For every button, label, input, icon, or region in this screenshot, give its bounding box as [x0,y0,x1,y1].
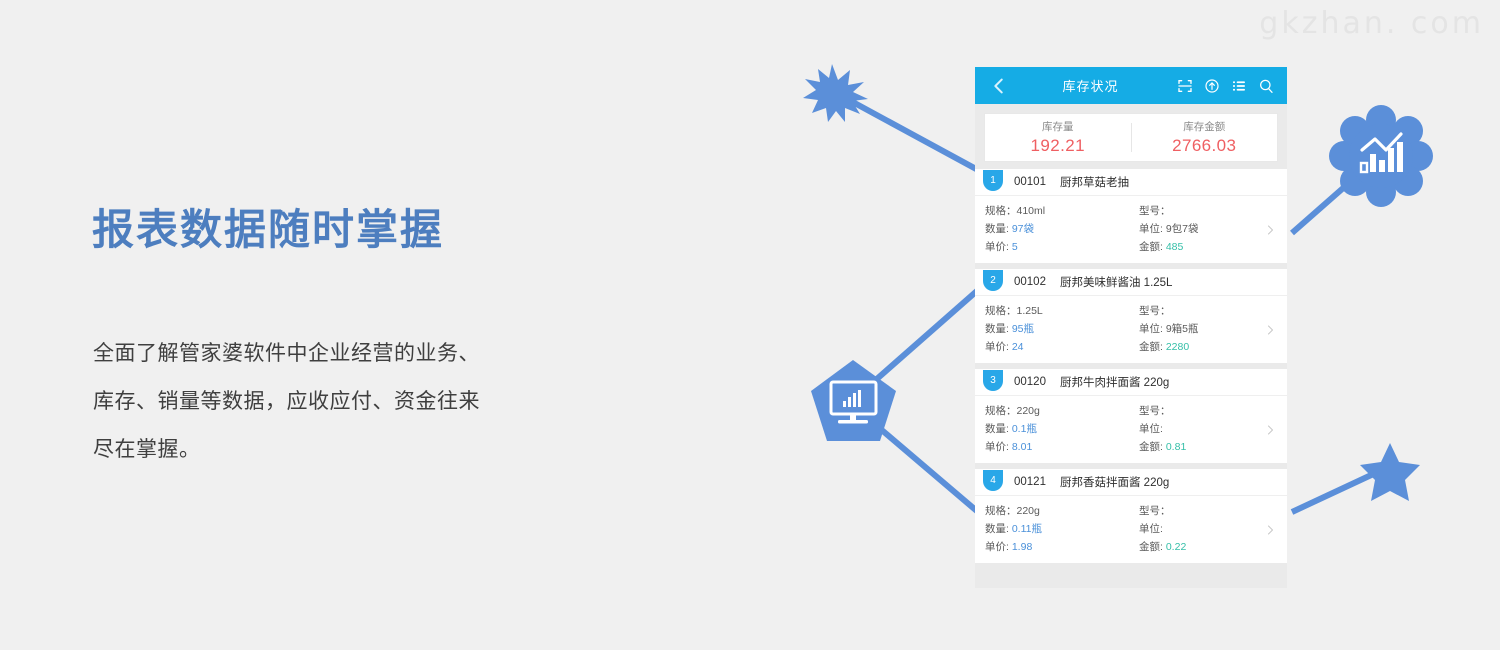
list-item-header: 3 00120 厨邦牛肉拌面酱 220g [975,369,1287,396]
qty-label: 数量: [985,523,1009,535]
spec-value: 220g [1017,405,1040,417]
unit-label: 单位: [1139,323,1163,335]
spec-field: 规格：1.25L [985,302,1133,320]
connector-line-right-lower [1292,470,1382,512]
qty-field: 数量: 95瓶 [985,320,1133,338]
price-value: 24 [1012,341,1024,353]
app-title: 库存状况 [1004,76,1177,95]
qty-label: 数量: [985,223,1009,235]
description-line-1: 全面了解管家婆软件中企业经营的业务、 [93,330,593,378]
cloud-shape [1329,105,1433,207]
details-col-left: 规格：220g 数量: 0.1瓶 单价: 8.01 [975,402,1133,456]
unit-value: 9箱5瓶 [1166,323,1199,335]
price-value: 8.01 [1012,441,1032,453]
list-item-details: 规格：220g 数量: 0.1瓶 单价: 8.01 型号： 单位: 金额: 0.… [975,396,1287,463]
spec-value: 220g [1017,505,1040,517]
monitor-screen-outline [831,382,876,414]
spec-label: 规格： [985,205,1017,217]
product-name: 厨邦美味鲜酱油 1.25L [1060,274,1172,290]
summary-stock-amount-value: 2766.03 [1132,135,1278,156]
list-item[interactable]: 4 00121 厨邦香菇拌面酱 220g 规格：220g 数量: 0.11瓶 单… [975,469,1287,563]
list-item-header: 1 00101 厨邦草菇老抽 [975,169,1287,196]
description-line-3: 尽在掌握。 [93,426,593,474]
spec-field: 规格：220g [985,502,1133,520]
description-line-2: 库存、销量等数据，应收应付、资金往来 [93,378,593,426]
chevron-right-icon[interactable] [1264,524,1276,536]
model-label: 型号： [1139,305,1171,317]
burst-icon [803,64,868,122]
amount-field: 金额: 0.22 [1139,538,1287,556]
product-name: 厨邦草菇老抽 [1060,174,1129,190]
summary-stock-amount: 库存金额 2766.03 [1132,120,1278,156]
chevron-right-icon[interactable] [1264,224,1276,236]
summary-stock-qty-value: 192.21 [985,135,1131,156]
spec-value: 410ml [1017,205,1046,217]
product-code: 00120 [1014,376,1046,388]
star-icon [1360,443,1420,501]
search-icon[interactable] [1258,78,1274,94]
summary-stock-amount-label: 库存金额 [1132,120,1278,135]
amount-value: 0.81 [1166,441,1186,453]
summary-card: 库存量 192.21 库存金额 2766.03 [984,113,1278,162]
burst-star-badge [803,64,868,122]
monitor-chart-icon [843,390,861,407]
spec-label: 规格： [985,305,1017,317]
row-index-badge: 4 [983,470,1003,491]
model-label: 型号： [1139,205,1171,217]
list-item-details: 规格：410ml 数量: 97袋 单价: 5 型号： 单位: 9包7袋 金额: … [975,196,1287,263]
amount-value: 2280 [1166,341,1189,353]
amount-value: 485 [1166,241,1184,253]
model-field: 型号： [1139,202,1287,220]
qty-value: 0.11瓶 [1012,523,1042,535]
app-header-actions [1177,78,1274,94]
spec-label: 规格： [985,505,1017,517]
qty-label: 数量: [985,323,1009,335]
chevron-right-icon[interactable] [1264,324,1276,336]
row-index-badge: 3 [983,370,1003,391]
connector-line-mid-lower [870,420,978,512]
connector-line-right-upper [1292,175,1358,233]
five-point-star-badge [1360,443,1420,501]
product-code: 00121 [1014,476,1046,488]
qty-label: 数量: [985,423,1009,435]
list-item-details: 规格：220g 数量: 0.11瓶 单价: 1.98 型号： 单位: 金额: 0… [975,496,1287,563]
model-label: 型号： [1139,405,1171,417]
amount-label: 金额: [1139,441,1163,453]
row-index-badge: 1 [983,170,1003,191]
unit-label: 单位: [1139,423,1163,435]
details-col-left: 规格：410ml 数量: 97袋 单价: 5 [975,202,1133,256]
list-item[interactable]: 1 00101 厨邦草菇老抽 规格：410ml 数量: 97袋 单价: 5 型号… [975,169,1287,269]
scan-frame-icon[interactable] [1177,78,1193,94]
amount-field: 金额: 485 [1139,238,1287,256]
unit-label: 单位: [1139,223,1163,235]
phone-mockup: 库存状况 [975,67,1287,588]
summary-stock-qty: 库存量 192.21 [985,120,1131,156]
summary-stock-qty-label: 库存量 [985,120,1131,135]
qty-field: 数量: 0.1瓶 [985,420,1133,438]
product-name: 厨邦香菇拌面酱 220g [1060,474,1169,490]
price-field: 单价: 1.98 [985,538,1133,556]
model-field: 型号： [1139,402,1287,420]
connector-line-mid-upper [870,290,978,385]
site-watermark: gkzhan. com [1259,6,1484,41]
amount-label: 金额: [1139,241,1163,253]
list-item[interactable]: 3 00120 厨邦牛肉拌面酱 220g 规格：220g 数量: 0.1瓶 单价… [975,369,1287,469]
qty-value: 97袋 [1012,223,1034,235]
cloud-chart-badge [1329,105,1433,207]
spec-field: 规格：220g [985,402,1133,420]
arrow-up-circle-icon[interactable] [1204,78,1220,94]
connector-line-top-left [838,94,978,170]
chevron-right-icon[interactable] [1264,424,1276,436]
monitor-stand-base [838,420,868,424]
qty-value: 95瓶 [1012,323,1034,335]
qty-field: 数量: 97袋 [985,220,1133,238]
list-item[interactable]: 2 00102 厨邦美味鲜酱油 1.25L 规格：1.25L 数量: 95瓶 单… [975,269,1287,369]
unit-label: 单位: [1139,523,1163,535]
price-label: 单价: [985,341,1009,353]
spec-value: 1.25L [1017,305,1043,317]
amount-field: 金额: 0.81 [1139,438,1287,456]
amount-field: 金额: 2280 [1139,338,1287,356]
pentagon-monitor-badge [811,360,896,441]
page-title: 报表数据随时掌握 [92,196,444,257]
price-field: 单价: 8.01 [985,438,1133,456]
row-index-badge: 2 [983,270,1003,291]
unit-value: 9包7袋 [1166,223,1199,235]
model-field: 型号： [1139,302,1287,320]
amount-label: 金额: [1139,341,1163,353]
list-item-header: 4 00121 厨邦香菇拌面酱 220g [975,469,1287,496]
price-label: 单价: [985,241,1009,253]
qty-value: 0.1瓶 [1012,423,1037,435]
price-field: 单价: 5 [985,238,1133,256]
spec-label: 规格： [985,405,1017,417]
pentagon-shape [811,360,896,441]
list-footer-spacer [975,563,1287,588]
details-col-left: 规格：1.25L 数量: 95瓶 单价: 24 [975,302,1133,356]
amount-label: 金额: [1139,541,1163,553]
page-description: 全面了解管家婆软件中企业经营的业务、 库存、销量等数据，应收应付、资金往来 尽在… [93,330,593,474]
amount-value: 0.22 [1166,541,1186,553]
product-code: 00101 [1014,176,1046,188]
app-header: 库存状况 [975,67,1287,104]
price-label: 单价: [985,541,1009,553]
list-icon[interactable] [1231,78,1247,94]
model-field: 型号： [1139,502,1287,520]
product-name: 厨邦牛肉拌面酱 220g [1060,374,1169,390]
price-label: 单价: [985,441,1009,453]
qty-field: 数量: 0.11瓶 [985,520,1133,538]
price-value: 5 [1012,241,1018,253]
spec-field: 规格：410ml [985,202,1133,220]
details-col-left: 规格：220g 数量: 0.11瓶 单价: 1.98 [975,502,1133,556]
price-value: 1.98 [1012,541,1032,553]
product-code: 00102 [1014,276,1046,288]
model-label: 型号： [1139,505,1171,517]
list-item-details: 规格：1.25L 数量: 95瓶 单价: 24 型号： 单位: 9箱5瓶 金额:… [975,296,1287,363]
bar-chart-trend-icon [1361,134,1403,172]
list-item-header: 2 00102 厨邦美味鲜酱油 1.25L [975,269,1287,296]
page-canvas: gkzhan. com 报表数据随时掌握 全面了解管家婆软件中企业经营的业务、 … [0,0,1500,650]
inventory-list: 1 00101 厨邦草菇老抽 规格：410ml 数量: 97袋 单价: 5 型号… [975,169,1287,563]
price-field: 单价: 24 [985,338,1133,356]
monitor-stand-neck [850,414,856,420]
